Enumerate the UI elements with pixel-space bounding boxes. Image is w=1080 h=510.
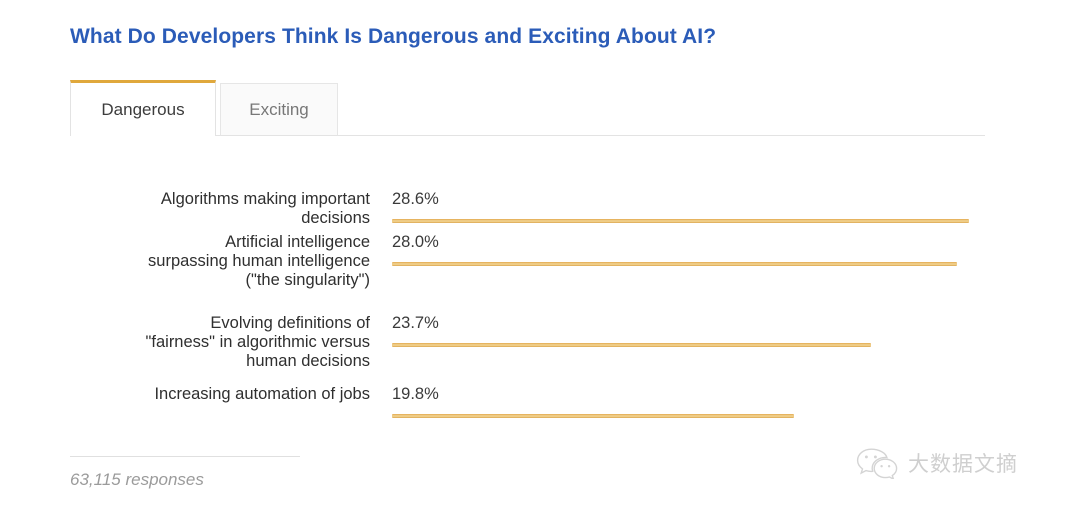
page-title: What Do Developers Think Is Dangerous an… [70, 25, 716, 49]
bar-fill [392, 343, 871, 347]
bar-label-line: human decisions [246, 352, 370, 370]
watermark-text: 大数据文摘 [908, 448, 1018, 478]
bar-label: Increasing automation of jobs [70, 385, 370, 404]
bar-fill [392, 262, 957, 266]
bar-label: Algorithms making important decisions [70, 190, 370, 228]
bar-fill [392, 219, 969, 223]
bar-label-line: Artificial intelligence [225, 233, 370, 251]
responses-count: 63,115 responses [70, 470, 204, 490]
bar-chart: Algorithms making important decisions 28… [70, 190, 990, 425]
bar-fill [392, 414, 794, 418]
footer-divider [70, 456, 300, 457]
bar-label: Artificial intelligence surpassing human… [70, 233, 370, 290]
bar-value: 28.6% [392, 190, 439, 209]
bar-label-line: Increasing automation of jobs [154, 385, 370, 403]
tab-dangerous-label: Dangerous [101, 100, 184, 120]
bar-label: Evolving definitions of "fairness" in al… [70, 314, 370, 371]
tab-exciting-label: Exciting [249, 100, 309, 120]
bar-label-line: surpassing human intelligence [148, 252, 370, 270]
bar-value: 28.0% [392, 233, 439, 252]
watermark: 大数据文摘 [855, 447, 1018, 479]
bar-value: 23.7% [392, 314, 439, 333]
bar-label-line: decisions [301, 209, 370, 227]
tab-strip: Dangerous Exciting [70, 80, 985, 136]
tab-dangerous[interactable]: Dangerous [70, 80, 216, 136]
wechat-icon [855, 447, 899, 479]
bar-label-line: Algorithms making important [161, 190, 370, 208]
bar-value: 19.8% [392, 385, 439, 404]
bar-label-line: "fairness" in algorithmic versus [146, 333, 370, 351]
tab-exciting[interactable]: Exciting [220, 83, 338, 136]
bar-label-line: ("the singularity") [245, 271, 370, 289]
bar-label-line: Evolving definitions of [210, 314, 370, 332]
